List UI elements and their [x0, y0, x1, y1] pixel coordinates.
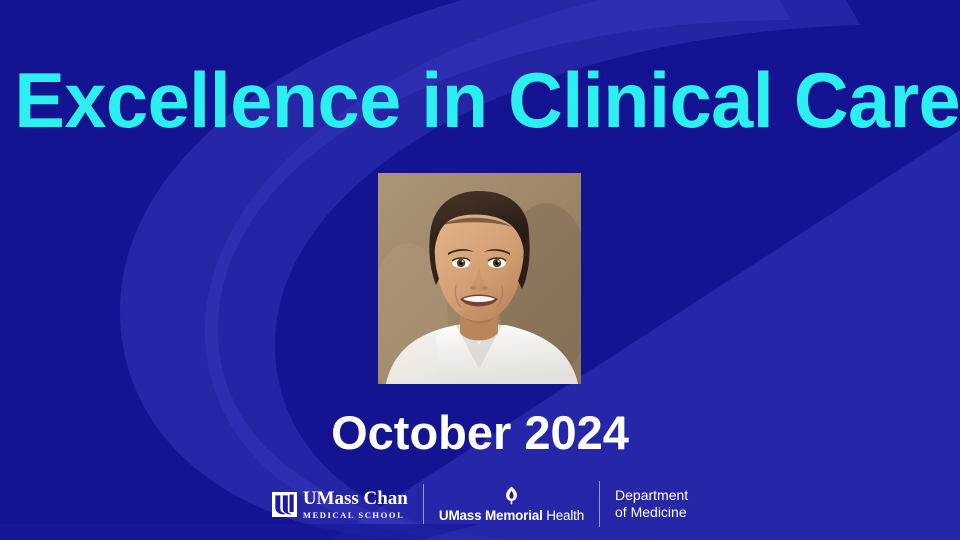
logo-divider-1 — [423, 484, 424, 524]
umass-chan-mark-icon — [272, 492, 297, 517]
umass-chan-name: UMass Chan — [303, 489, 408, 508]
page-title: Excellence in Clinical Care — [14, 57, 945, 143]
department-of-medicine-label: Department of Medicine — [615, 487, 688, 521]
umass-memorial-logo: UMass Memorial Health — [439, 486, 584, 523]
umass-chan-subtitle: MEDICAL SCHOOL — [303, 510, 408, 520]
portrait-photo — [378, 173, 581, 384]
umass-memorial-flame-icon — [503, 486, 520, 505]
umass-chan-wordmark: UMass Chan MEDICAL SCHOOL — [303, 489, 408, 520]
umass-memorial-wordmark: UMass Memorial Health — [439, 508, 584, 523]
presentation-slide: Excellence in Clinical Care — [0, 0, 960, 540]
umass-memorial-name-bold: UMass Memorial — [439, 508, 543, 523]
department-line-1: Department — [615, 487, 688, 504]
umass-memorial-name-light: Health — [543, 508, 584, 523]
logo-divider-2 — [599, 481, 600, 527]
umass-chan-logo: UMass Chan MEDICAL SCHOOL — [272, 489, 408, 520]
slide-date: October 2024 — [0, 406, 960, 460]
logo-bar: UMass Chan MEDICAL SCHOOL UMass Memorial… — [0, 481, 960, 527]
department-line-2: of Medicine — [615, 504, 687, 521]
portrait-illustration — [378, 173, 581, 384]
